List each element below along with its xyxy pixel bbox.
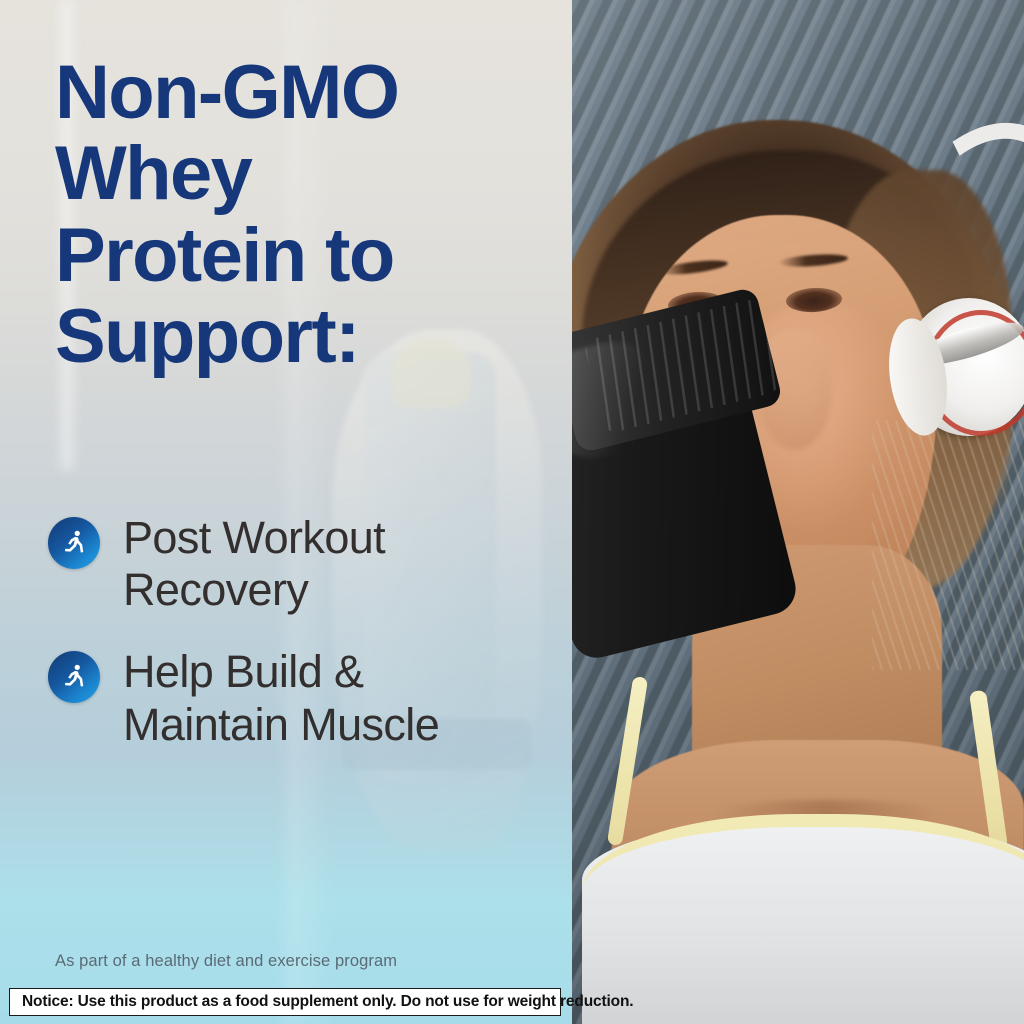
running-person-icon (48, 651, 100, 703)
benefit-list: Post Workout Recovery Help Build & Maint… (48, 512, 548, 781)
notice-box: Notice: Use this product as a food suppl… (9, 988, 561, 1016)
list-item: Post Workout Recovery (48, 512, 548, 616)
list-item-label: Help Build & Maintain Muscle (123, 646, 439, 750)
headline: Non-GMO Whey Protein to Support: (55, 52, 555, 377)
running-person-icon (48, 517, 100, 569)
product-lifestyle-photo (572, 0, 1024, 1024)
loose-hair-strands (872, 420, 1024, 670)
list-item-label: Post Workout Recovery (123, 512, 385, 616)
left-content-panel: Non-GMO Whey Protein to Support: Post Wo… (0, 0, 572, 1024)
notice-text: Notice: Use this product as a food suppl… (10, 993, 633, 1011)
list-item: Help Build & Maintain Muscle (48, 646, 548, 750)
disclaimer-footnote: As part of a healthy diet and exercise p… (55, 952, 397, 971)
marketing-banner: Non-GMO Whey Protein to Support: Post Wo… (0, 0, 1024, 1024)
